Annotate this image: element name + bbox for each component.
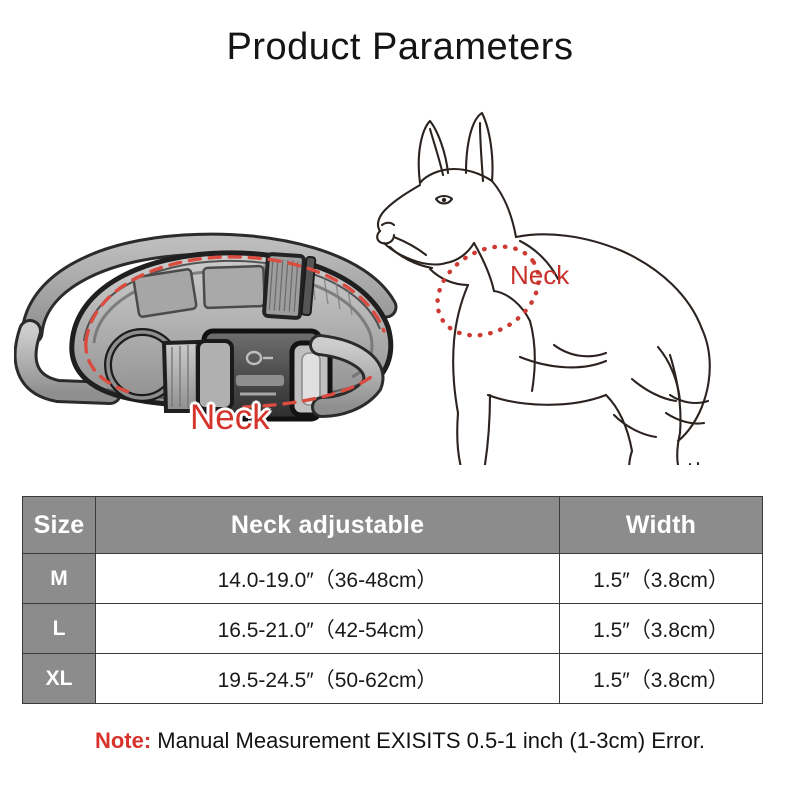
- cell-width: 1.5″（3.8cm）: [560, 554, 763, 604]
- table-row: M 14.0-19.0″（36-48cm） 1.5″（3.8cm）: [23, 554, 763, 604]
- cell-width: 1.5″（3.8cm）: [560, 654, 763, 704]
- column-header-width: Width: [560, 497, 763, 554]
- cell-neck-adjustable: 14.0-19.0″（36-48cm）: [96, 554, 560, 604]
- cell-neck-adjustable: 19.5-24.5″（50-62cm）: [96, 654, 560, 704]
- note-label: Note:: [95, 728, 151, 753]
- cell-neck-adjustable: 16.5-21.0″（42-54cm）: [96, 604, 560, 654]
- specification-table: Size Neck adjustable Width M 14.0-19.0″（…: [22, 496, 763, 704]
- column-header-neck-adjustable: Neck adjustable: [96, 497, 560, 554]
- page-title: Product Parameters: [0, 26, 800, 69]
- dog-line-drawing: [370, 95, 790, 465]
- note-text: Manual Measurement EXISITS 0.5-1 inch (1…: [151, 728, 705, 753]
- cell-size: M: [23, 554, 96, 604]
- table-row: L 16.5-21.0″（42-54cm） 1.5″（3.8cm）: [23, 604, 763, 654]
- cell-width: 1.5″（3.8cm）: [560, 604, 763, 654]
- dog-neck-label: Neck: [510, 260, 569, 291]
- table-header-row: Size Neck adjustable Width: [23, 497, 763, 554]
- illustration-area: Neck Neck: [0, 95, 800, 475]
- cell-size: L: [23, 604, 96, 654]
- column-header-size: Size: [23, 497, 96, 554]
- cell-size: XL: [23, 654, 96, 704]
- collar-neck-label: Neck: [190, 398, 270, 438]
- table-row: XL 19.5-24.5″（50-62cm） 1.5″（3.8cm）: [23, 654, 763, 704]
- measurement-note: Note: Manual Measurement EXISITS 0.5-1 i…: [0, 728, 800, 754]
